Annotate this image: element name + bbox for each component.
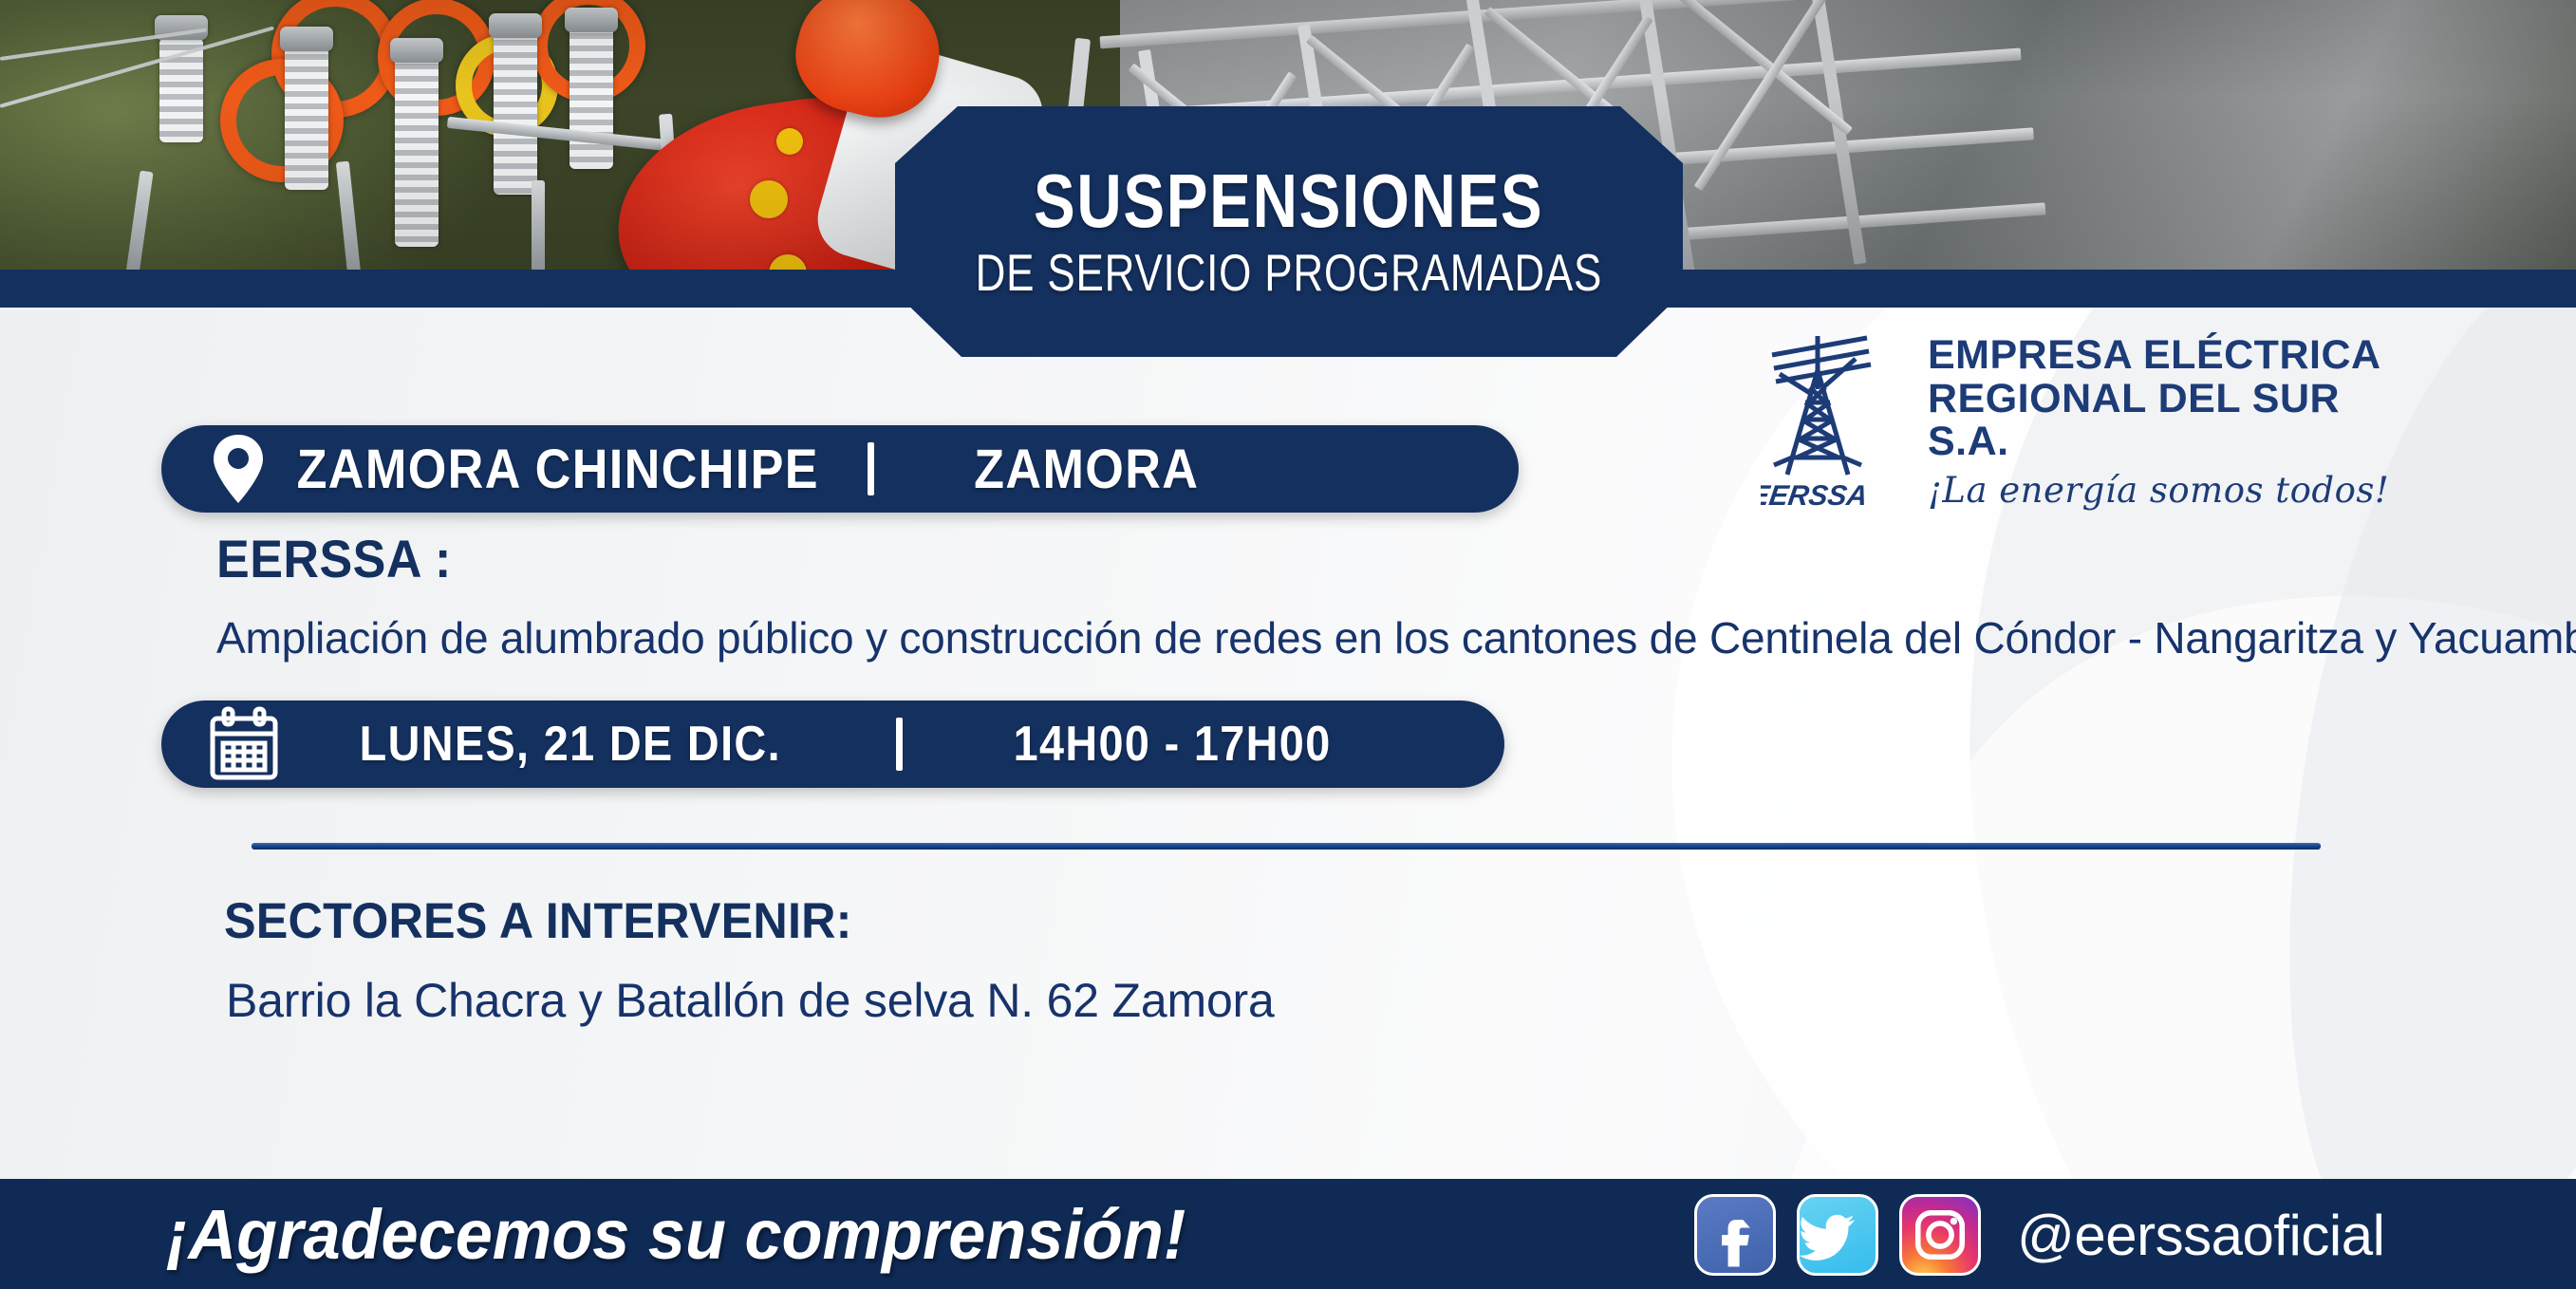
footer-slogan: ¡Agradecemos su comprensión! bbox=[166, 1194, 1185, 1275]
banner-title-primary: SUSPENSIONES bbox=[1034, 165, 1543, 237]
suspension-notice-poster: SUSPENSIONES DE SERVICIO PROGRAMADAS bbox=[0, 0, 2576, 1289]
logo-wordmark: EMPRESA ELÉCTRICA REGIONAL DEL SUR S.A. … bbox=[1928, 334, 2425, 511]
social-links: @eerssaoficial bbox=[1694, 1194, 2384, 1276]
location-province: ZAMORA CHINCHIPE bbox=[297, 438, 819, 501]
calendar-icon bbox=[207, 705, 281, 783]
svg-text:EERSSA: EERSSA bbox=[1761, 480, 1870, 512]
location-bar: ZAMORA CHINCHIPE ZAMORA bbox=[161, 425, 1519, 513]
sectors-heading: SECTORES A INTERVENIR: bbox=[224, 892, 852, 950]
location-separator bbox=[868, 442, 874, 495]
work-description: Ampliación de alumbrado público y constr… bbox=[216, 612, 2576, 663]
map-pin-icon bbox=[211, 433, 266, 505]
banner-title-secondary: DE SERVICIO PROGRAMADAS bbox=[976, 247, 1603, 299]
location-canton: ZAMORA bbox=[974, 438, 1199, 501]
social-handle[interactable]: @eerssaoficial bbox=[2017, 1203, 2384, 1268]
transmission-tower-icon: EERSSA bbox=[1761, 332, 1903, 513]
banner-title-block: SUSPENSIONES DE SERVICIO PROGRAMADAS bbox=[895, 106, 1683, 357]
logo-name-line2: REGIONAL DEL SUR S.A. bbox=[1928, 378, 2425, 464]
logo-name-line1: EMPRESA ELÉCTRICA bbox=[1928, 334, 2425, 378]
facebook-icon[interactable] bbox=[1694, 1194, 1776, 1276]
logo-slogan: ¡La energía somos todos! bbox=[1928, 470, 2425, 511]
schedule-separator bbox=[896, 718, 903, 771]
twitter-icon[interactable] bbox=[1797, 1194, 1878, 1276]
section-divider bbox=[252, 843, 2321, 850]
sectors-body: Barrio la Chacra y Batallón de selva N. … bbox=[226, 973, 1275, 1028]
schedule-time: 14H00 - 17H00 bbox=[1013, 716, 1331, 773]
schedule-bar: LUNES, 21 DE DIC. 14H00 - 17H00 bbox=[161, 701, 1504, 788]
eerssa-logo: EERSSA EMPRESA ELÉCTRICA REGIONAL DEL SU… bbox=[1761, 327, 2425, 517]
instagram-icon[interactable] bbox=[1899, 1194, 1981, 1276]
company-label: EERSSA : bbox=[216, 528, 452, 589]
schedule-date: LUNES, 21 DE DIC. bbox=[360, 716, 781, 773]
